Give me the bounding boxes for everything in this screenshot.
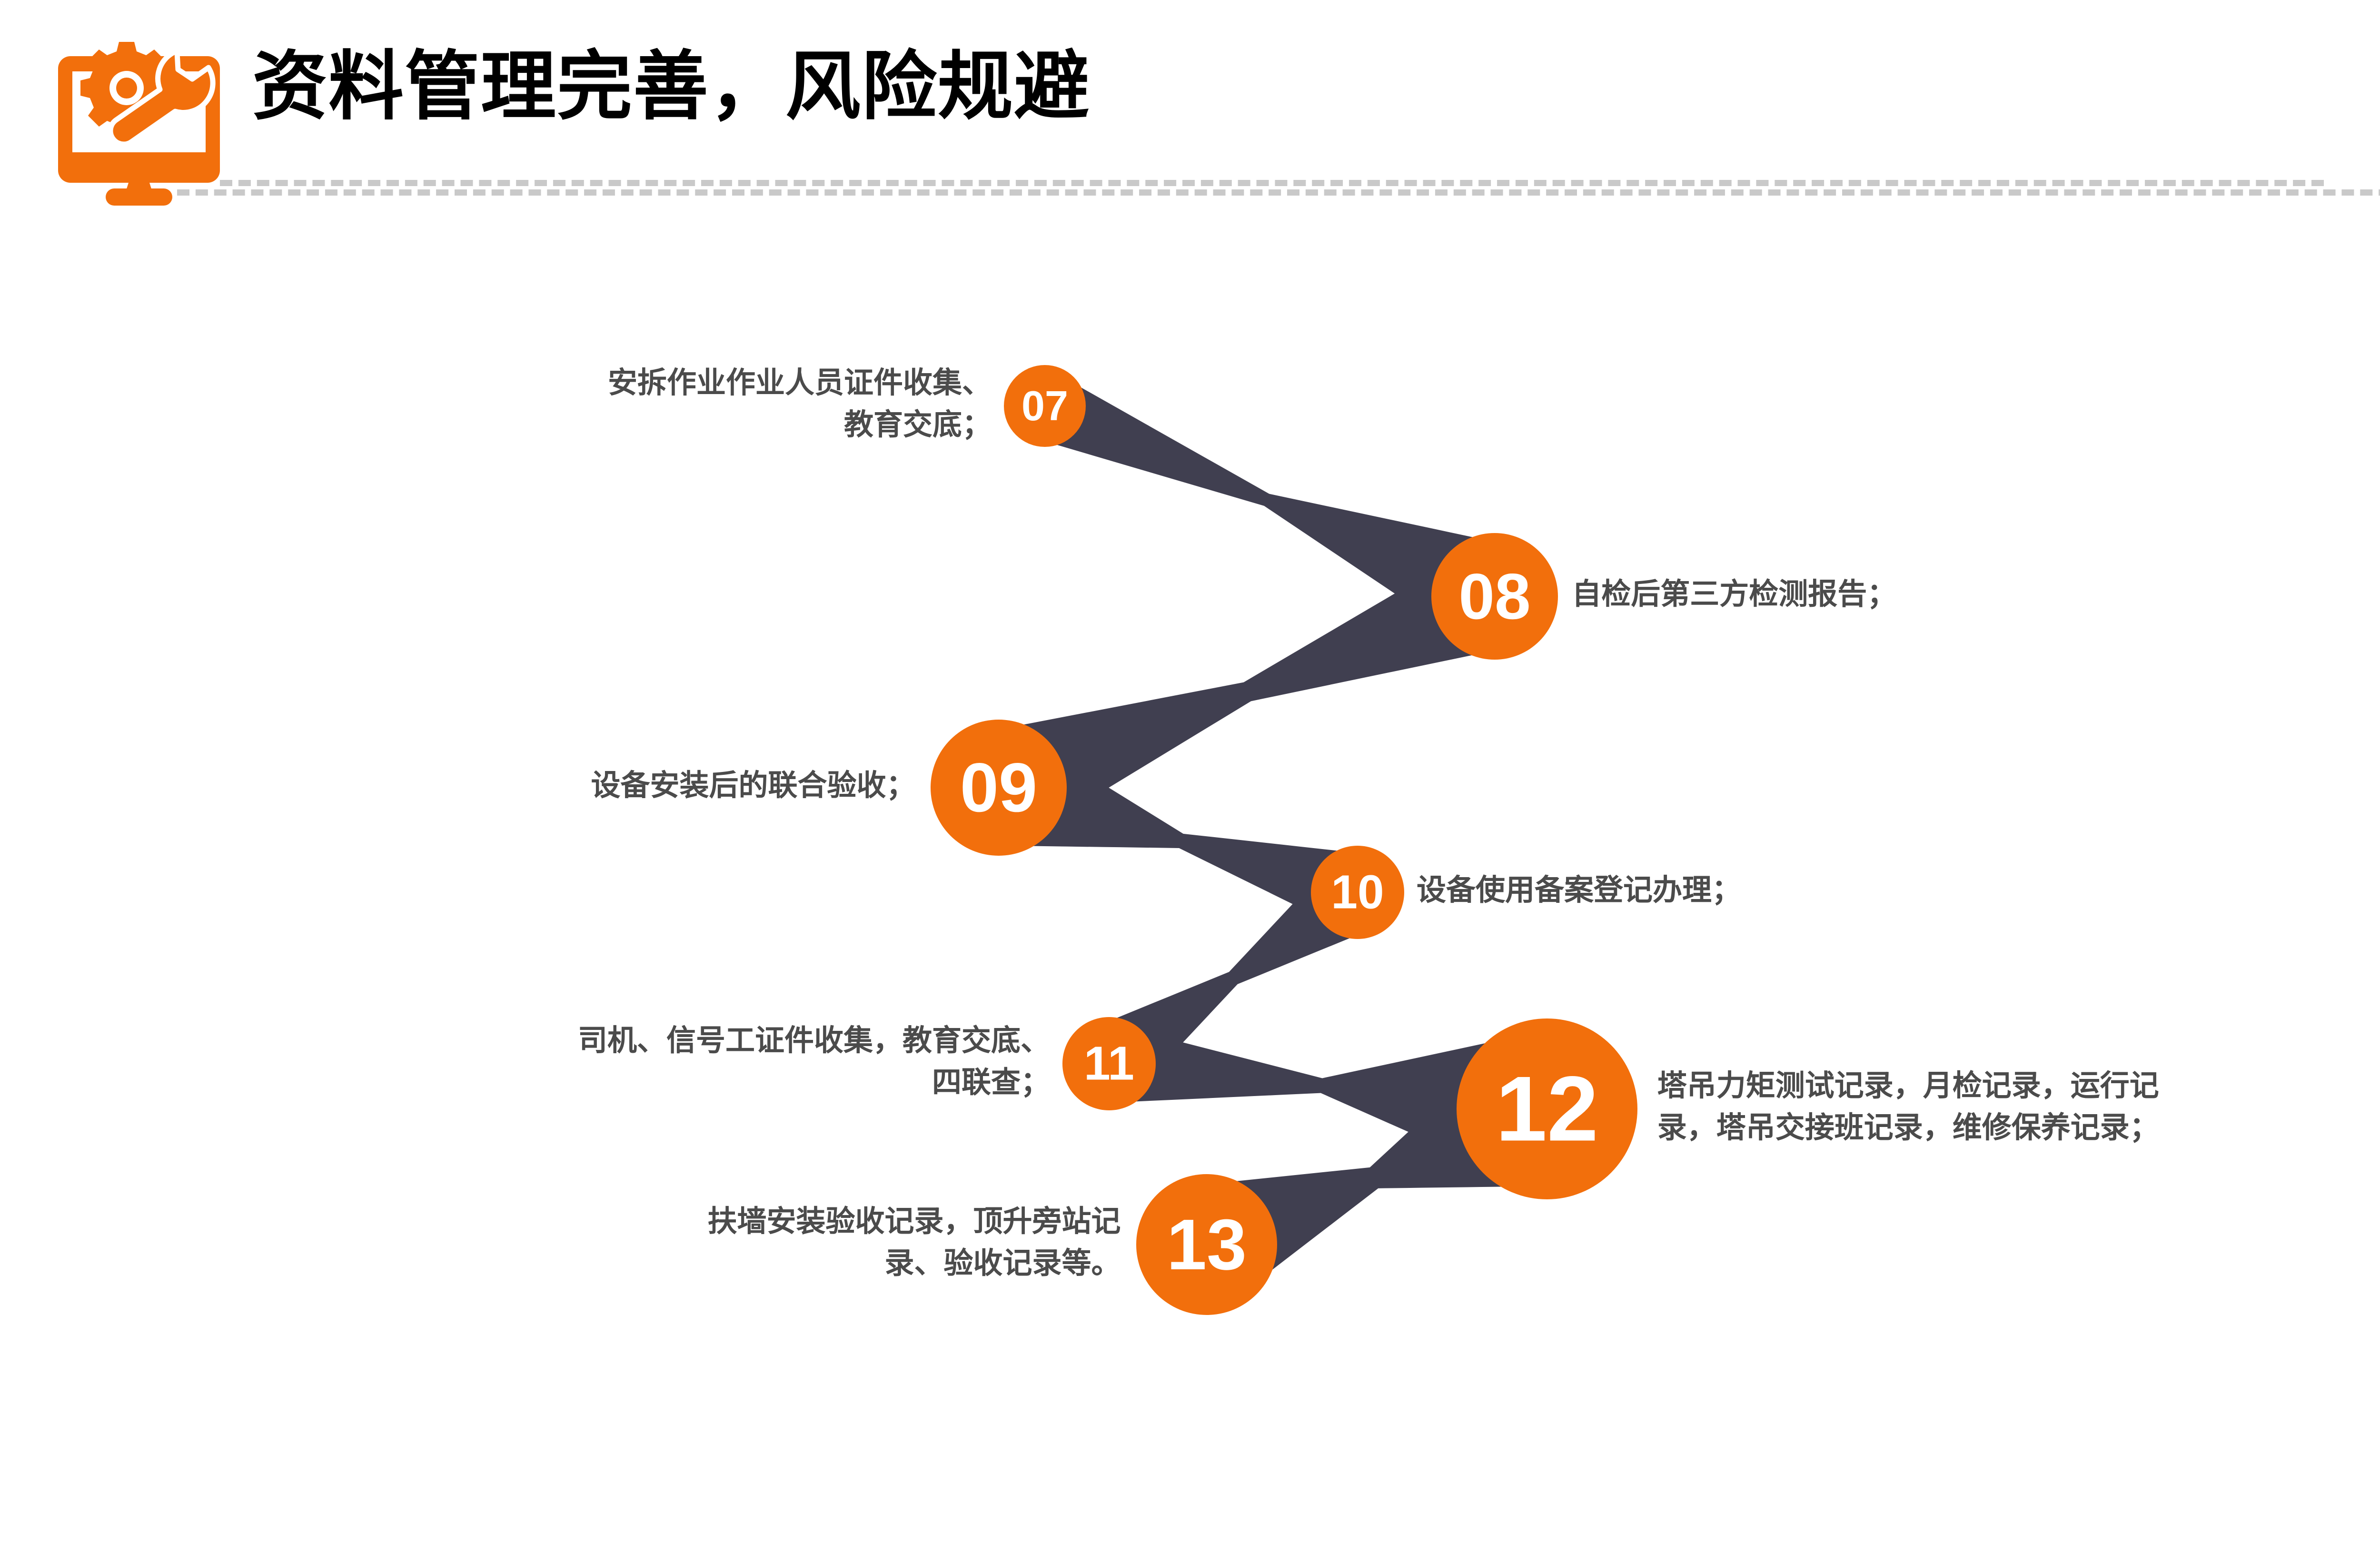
flow-node-circle-08[interactable] bbox=[1431, 533, 1558, 660]
flow-node-label-07: 安拆作业作业人员证件收集、 教育交底； bbox=[608, 362, 992, 446]
flow-node-circle-11[interactable] bbox=[1062, 1017, 1156, 1110]
flow-node-circle-13[interactable] bbox=[1136, 1174, 1277, 1315]
flow-node-circle-07[interactable] bbox=[1004, 365, 1086, 447]
flow-node-label-10: 设备使用备案登记办理； bbox=[1417, 870, 1741, 911]
flow-node-circle-10[interactable] bbox=[1311, 846, 1404, 939]
slide-root: 资料管理完善，风险规避 07080910111213 安拆作业作业人员证件收集、… bbox=[0, 0, 2380, 1542]
flow-node-circle-09[interactable] bbox=[931, 720, 1067, 856]
flow-ribbons bbox=[0, 205, 2380, 1542]
flow-node-label-13: 扶墙安装验收记录，顶升旁站记 录、验收记录等。 bbox=[707, 1201, 1121, 1285]
monitor-gear-wrench-icon bbox=[58, 42, 220, 206]
header-divider-upper bbox=[220, 180, 2324, 186]
slide-header: 资料管理完善，风险规避 bbox=[0, 0, 2380, 205]
flow-node-circle-12[interactable] bbox=[1457, 1018, 1637, 1199]
flow-node-label-09: 设备安装后的联合验收； bbox=[591, 765, 916, 807]
header-divider-lower bbox=[177, 189, 2380, 196]
flow-node-label-11: 司机、信号工证件收集，教育交底、 四联查； bbox=[578, 1020, 1050, 1104]
page-title: 资料管理完善，风险规避 bbox=[252, 46, 1090, 128]
flow-node-label-08: 自检后第三方检测报告； bbox=[1572, 573, 1896, 615]
flow-node-label-12: 塔吊力矩测试记录，月检记录，运行记 录，塔吊交接班记录，维修保养记录； bbox=[1657, 1065, 2159, 1149]
process-flow-diagram: 07080910111213 安拆作业作业人员证件收集、 教育交底；自检后第三方… bbox=[0, 205, 2380, 1542]
